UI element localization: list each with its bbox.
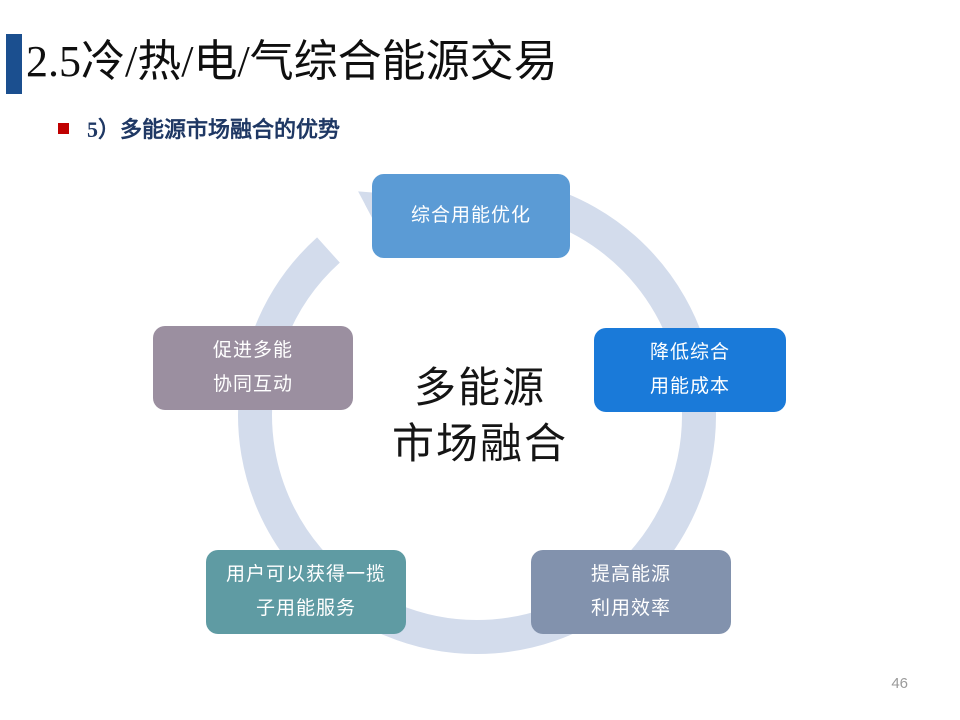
cycle-node-left-line2: 协同互动 — [213, 368, 293, 402]
cycle-node-bottom-right-line2: 利用效率 — [591, 592, 671, 626]
cycle-center-label: 多能源 市场融合 — [355, 360, 605, 472]
cycle-center-line2: 市场融合 — [355, 416, 605, 472]
cycle-node-right-line2: 用能成本 — [650, 370, 730, 404]
cycle-node-left-line1: 促进多能 — [213, 334, 293, 368]
slide-canvas: 2.5冷/热/电/气综合能源交易 5）多能源市场融合的优势 综合用能优化 降低综… — [0, 0, 960, 720]
title-accent-bar — [6, 34, 22, 94]
cycle-node-bottom-left-line2: 子用能服务 — [256, 592, 356, 626]
cycle-node-left[interactable]: 促进多能 协同互动 — [153, 326, 353, 410]
square-bullet-icon — [58, 123, 69, 134]
cycle-node-right-line1: 降低综合 — [650, 336, 730, 370]
subtitle-row: 5）多能源市场融合的优势 — [58, 112, 340, 144]
cycle-node-top[interactable]: 综合用能优化 — [372, 174, 570, 258]
cycle-node-bottom-right[interactable]: 提高能源 利用效率 — [531, 550, 731, 634]
cycle-node-bottom-left-line1: 用户可以获得一揽 — [226, 558, 386, 592]
cycle-diagram: 综合用能优化 降低综合 用能成本 提高能源 利用效率 用户可以获得一揽 子用能服… — [0, 150, 960, 670]
cycle-node-top-line1: 综合用能优化 — [411, 199, 531, 233]
page-number: 46 — [891, 675, 908, 692]
cycle-center-line1: 多能源 — [355, 360, 605, 416]
page-title: 2.5冷/热/电/气综合能源交易 — [26, 33, 558, 91]
cycle-node-bottom-left[interactable]: 用户可以获得一揽 子用能服务 — [206, 550, 406, 634]
cycle-node-right[interactable]: 降低综合 用能成本 — [594, 328, 786, 412]
subtitle-label: 5）多能源市场融合的优势 — [87, 112, 340, 144]
cycle-node-bottom-right-line1: 提高能源 — [591, 558, 671, 592]
